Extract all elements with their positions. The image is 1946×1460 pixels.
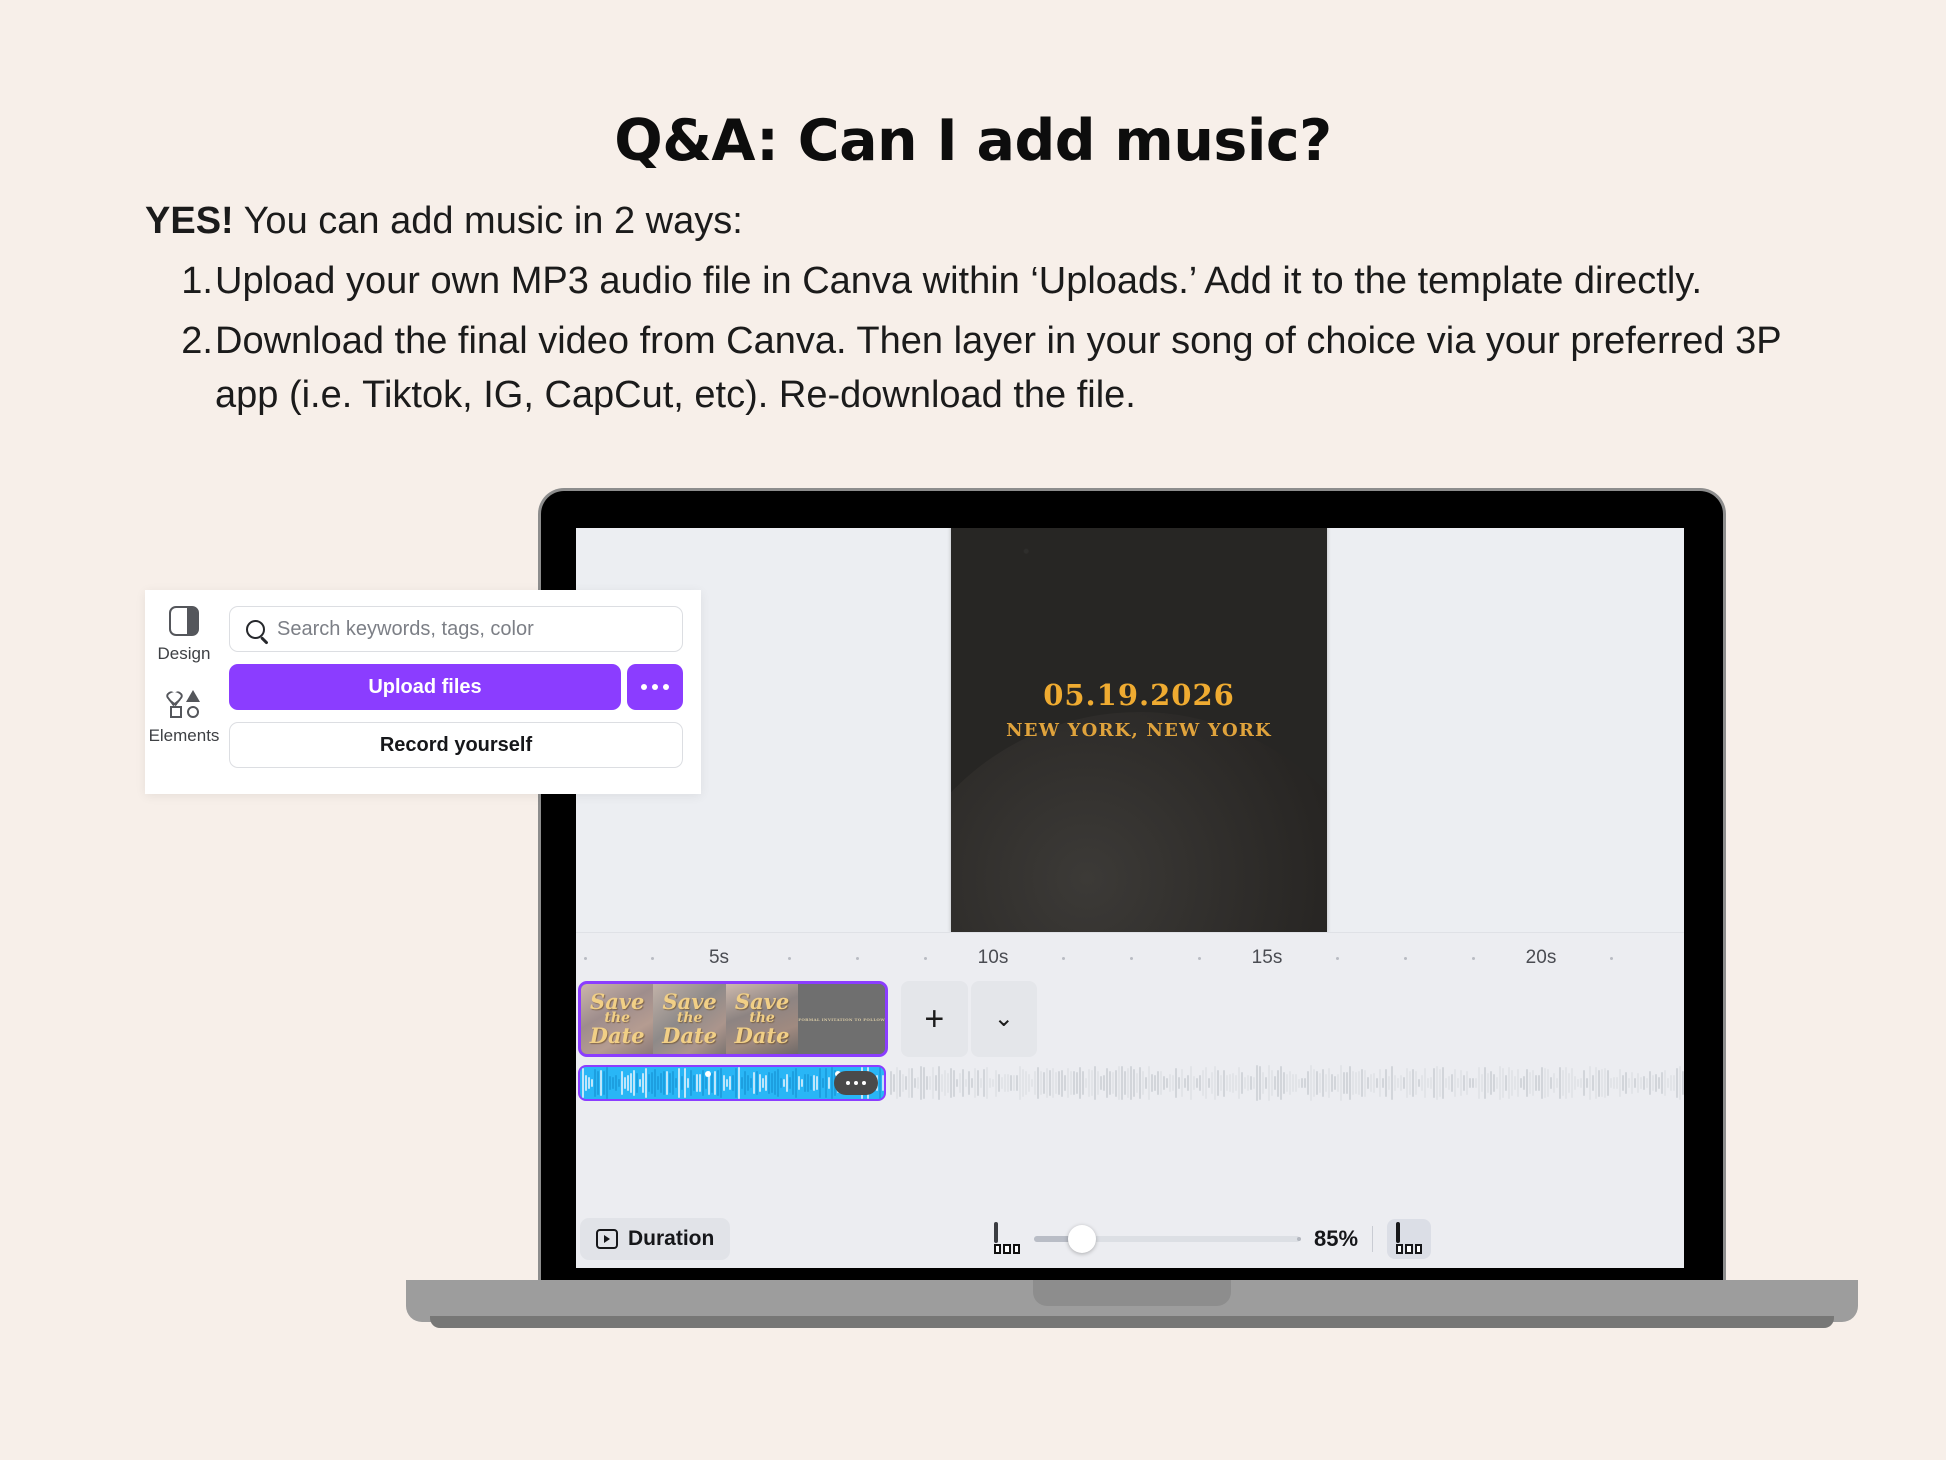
editor-canvas[interactable]: Date 05.19.2026 NEW YORK, NEW YORK — [576, 528, 1684, 932]
timeline-grid-icon[interactable] — [994, 1224, 1020, 1254]
video-clip[interactable]: Save the Date Save the — [578, 981, 888, 1057]
duration-button[interactable]: Duration — [580, 1218, 730, 1260]
slide-body: YES! You can add music in 2 ways: 1. Upl… — [145, 196, 1835, 423]
editor-sidebar-rail: Design Elements — [145, 590, 223, 794]
list-item-number: 2. — [173, 315, 213, 369]
list-item: 1. Upload your own MP3 audio file in Can… — [145, 255, 1835, 309]
ruler-tick — [584, 957, 587, 960]
laptop-screen: Date 05.19.2026 NEW YORK, NEW YORK 5s — [576, 528, 1684, 1268]
list-item: 2. Download the final video from Canva. … — [145, 315, 1835, 423]
clip-thumbnail-end: FORMAL INVITATION TO FOLLOW — [798, 984, 885, 1054]
ruler-tick — [924, 957, 927, 960]
ruler-tick — [1062, 957, 1065, 960]
timeline-ruler[interactable]: 5s 10s 15s 20s — [576, 933, 1684, 977]
page-view-button[interactable] — [1387, 1219, 1431, 1259]
page-title: Q&A: Can I add music? — [0, 108, 1946, 174]
overlay-line: Save — [590, 992, 644, 1013]
ellipsis-dot — [663, 684, 669, 690]
overlay-line: Save — [735, 992, 789, 1013]
design-card[interactable]: Date 05.19.2026 NEW YORK, NEW YORK — [951, 528, 1327, 932]
overlay-line: Save — [662, 992, 716, 1013]
lead-rest: You can add music in 2 ways: — [234, 200, 743, 242]
video-track[interactable]: Save the Date Save the — [578, 981, 888, 1057]
uploads-panel: Design Elements Search keywords, tags, c… — [145, 590, 701, 794]
sidebar-item-design[interactable]: Design — [158, 606, 211, 664]
ruler-label: 15s — [1252, 947, 1283, 969]
card-location: NEW YORK, NEW YORK — [951, 720, 1327, 741]
audio-keyframe-handle[interactable] — [705, 1071, 711, 1077]
zoom-level-label: 85% — [1314, 1226, 1358, 1252]
toolbar-divider — [1372, 1226, 1373, 1252]
ruler-tick — [1610, 957, 1613, 960]
overlay-line: Date — [662, 1026, 717, 1047]
upload-more-button[interactable] — [627, 664, 683, 710]
list-item-number: 1. — [173, 255, 213, 309]
view-icon-bottom — [1396, 1244, 1422, 1254]
steps-list: 1. Upload your own MP3 audio file in Can… — [145, 255, 1835, 423]
clip-thumbnail: Save the Date — [581, 984, 653, 1054]
ruler-tick — [1198, 957, 1201, 960]
audio-track[interactable] — [578, 1065, 1684, 1101]
waveform-gray — [888, 1065, 1684, 1101]
slider-thumb[interactable] — [1068, 1225, 1096, 1253]
search-placeholder: Search keywords, tags, color — [277, 618, 534, 641]
clip-thumbnail: Save the Date — [653, 984, 725, 1054]
plus-icon: + — [924, 1002, 944, 1036]
ellipsis-dot — [652, 684, 658, 690]
ellipsis-dot — [862, 1081, 866, 1085]
thumbnail-micro-text: FORMAL INVITATION TO FOLLOW — [798, 1017, 885, 1022]
search-input[interactable]: Search keywords, tags, color — [229, 606, 683, 652]
zoom-slider[interactable] — [1034, 1236, 1300, 1242]
view-icon-top — [1396, 1222, 1400, 1243]
slider-end-dot — [1297, 1237, 1301, 1241]
grid-icon-top — [994, 1222, 998, 1243]
upload-actions-row: Upload files — [229, 664, 683, 710]
search-icon — [246, 620, 265, 639]
laptop-notch — [1033, 1280, 1231, 1306]
overlay-line: Date — [590, 1026, 645, 1047]
play-in-box-icon — [596, 1229, 618, 1249]
list-item-text: Upload your own MP3 audio file in Canva … — [215, 260, 1702, 302]
ruler-label: 5s — [709, 947, 729, 969]
audio-clip[interactable] — [578, 1065, 886, 1101]
ruler-tick — [1336, 957, 1339, 960]
clip-thumbnail: Save the Date — [726, 984, 798, 1054]
sidebar-item-label: Design — [158, 644, 211, 664]
overlay-line: Date — [735, 1026, 790, 1047]
design-panel-icon — [169, 606, 199, 636]
ellipsis-dot — [641, 684, 647, 690]
add-page-dropdown-button[interactable]: ⌄ — [971, 981, 1038, 1057]
add-page-button[interactable]: + — [901, 981, 968, 1057]
audio-clip-menu-button[interactable] — [834, 1071, 878, 1095]
ruler-label: 10s — [978, 947, 1009, 969]
chevron-down-icon: ⌄ — [994, 1007, 1014, 1031]
ruler-label: 20s — [1526, 947, 1557, 969]
lead-emphasis: YES! — [145, 200, 234, 242]
list-item-text: Download the final video from Canva. The… — [215, 320, 1781, 416]
thumbnail-overlay-text: Save the Date — [726, 984, 798, 1054]
duration-label: Duration — [628, 1227, 714, 1251]
zoom-controls: 85% — [994, 1210, 1431, 1268]
sidebar-item-elements[interactable]: Elements — [149, 690, 220, 746]
timeline-panel: 5s 10s 15s 20s — [576, 932, 1684, 1268]
elements-shapes-icon — [167, 690, 201, 718]
upload-files-button[interactable]: Upload files — [229, 664, 621, 710]
ruler-tick — [1472, 957, 1475, 960]
lead-paragraph: YES! You can add music in 2 ways: — [145, 196, 1835, 247]
ruler-tick — [651, 957, 654, 960]
ruler-tick — [788, 957, 791, 960]
clip-thumbnails: Save the Date Save the — [581, 984, 885, 1054]
ruler-tick — [1130, 957, 1133, 960]
grid-icon-bottom — [994, 1244, 1020, 1254]
slide-root: Q&A: Can I add music? YES! You can add m… — [0, 0, 1946, 1460]
uploads-panel-main: Search keywords, tags, color Upload file… — [223, 590, 701, 794]
audio-waveform-tail — [888, 1065, 1684, 1101]
record-yourself-button[interactable]: Record yourself — [229, 722, 683, 768]
thumbnail-overlay-text: Save the Date — [581, 984, 653, 1054]
laptop-mockup: Date 05.19.2026 NEW YORK, NEW YORK 5s — [538, 488, 1726, 1292]
thumbnail-overlay-text: Save the Date — [653, 984, 725, 1054]
canva-editor: Date 05.19.2026 NEW YORK, NEW YORK 5s — [576, 528, 1684, 1268]
timeline-toolbar: Duration — [576, 1210, 1684, 1268]
ruler-tick — [1404, 957, 1407, 960]
add-page-group: + ⌄ — [901, 981, 1037, 1057]
sidebar-item-label: Elements — [149, 726, 220, 746]
ruler-tick — [856, 957, 859, 960]
page-view-icon — [1396, 1224, 1422, 1254]
ellipsis-dot — [846, 1081, 850, 1085]
card-date: 05.19.2026 — [951, 678, 1327, 712]
ellipsis-dot — [854, 1081, 858, 1085]
laptop-base-lip — [430, 1316, 1834, 1328]
